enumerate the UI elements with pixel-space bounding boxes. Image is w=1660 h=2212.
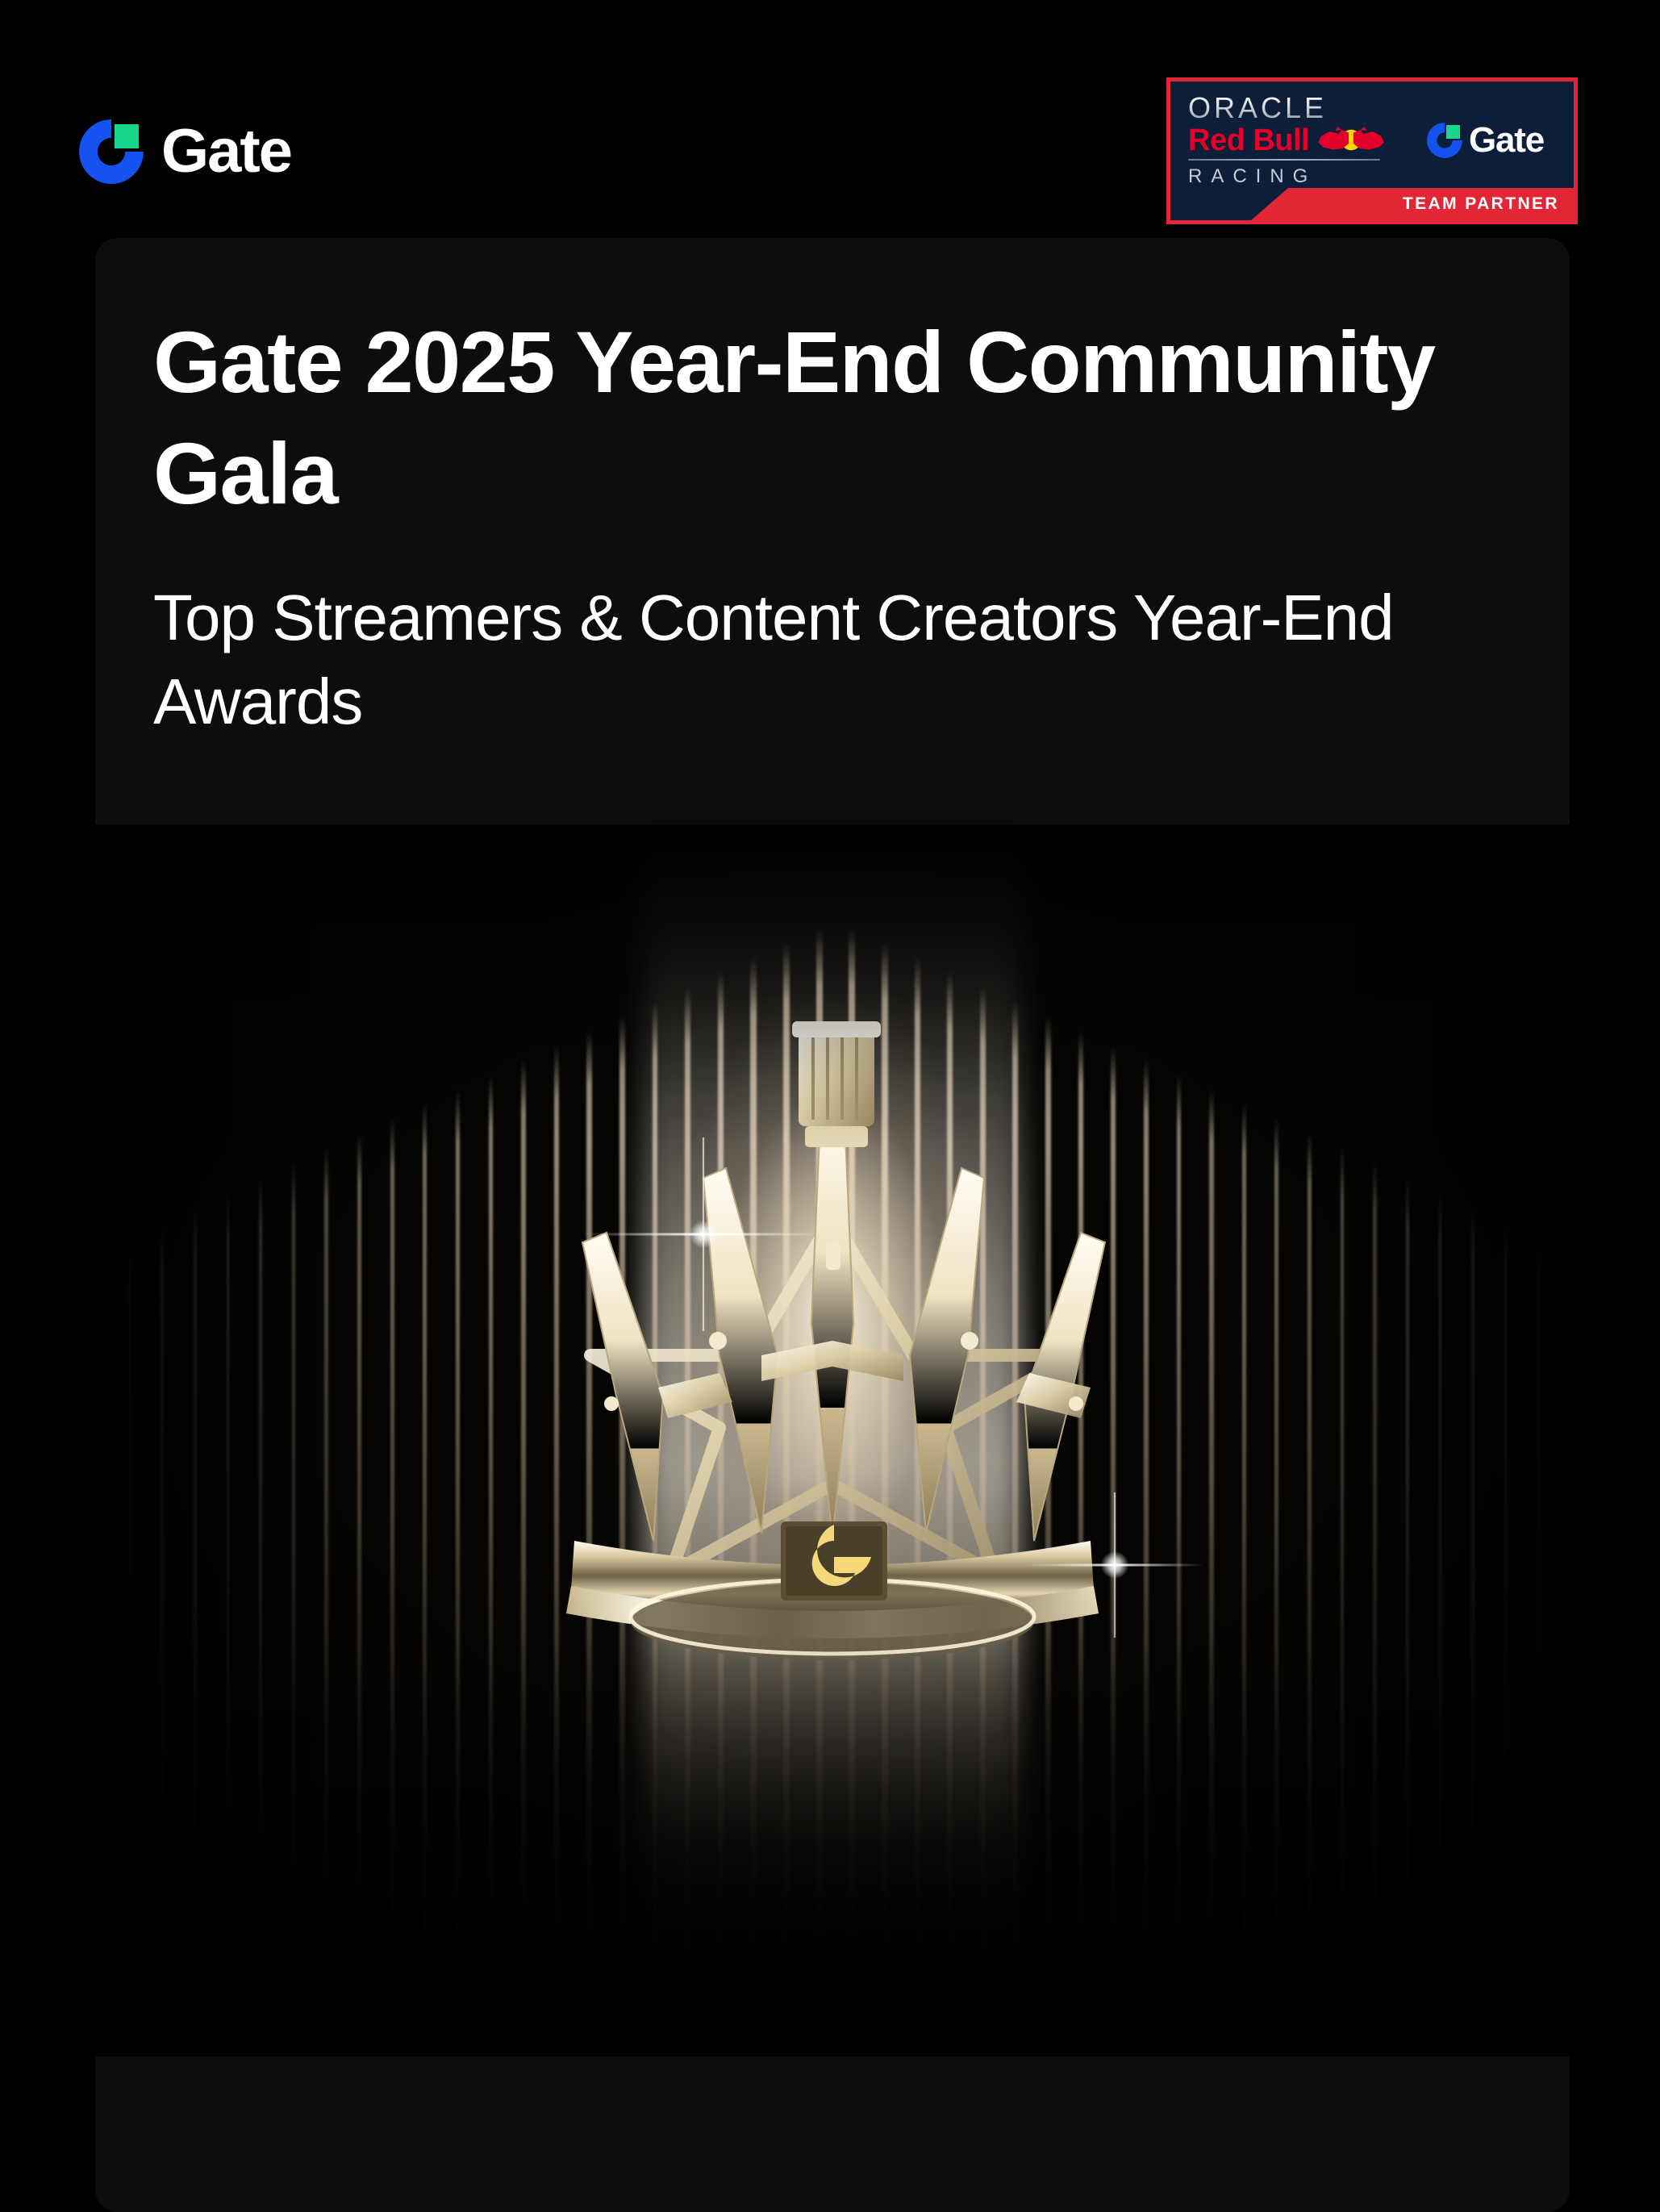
gate-brand-logo[interactable]: Gate bbox=[79, 119, 291, 184]
team-partner-banner: TEAM PARTNER bbox=[1251, 188, 1574, 220]
gate-logo-icon bbox=[79, 119, 144, 184]
gate-square-shape bbox=[115, 124, 139, 148]
oracle-label: ORACLE bbox=[1188, 93, 1404, 123]
badge-gate-wordmark: Gate bbox=[1469, 120, 1544, 161]
page-subtitle: Top Streamers & Content Creators Year-En… bbox=[153, 576, 1512, 744]
image-vignette bbox=[95, 824, 1570, 2056]
badge-gate-logo: Gate bbox=[1427, 120, 1544, 161]
gate-logo-icon-small bbox=[1427, 123, 1462, 158]
team-partner-label: TEAM PARTNER bbox=[1403, 194, 1559, 214]
red-bull-label: Red Bull bbox=[1188, 125, 1309, 156]
page-title: Gate 2025 Year-End Community Gala bbox=[153, 307, 1512, 529]
card-text-block: Gate 2025 Year-End Community Gala Top St… bbox=[95, 238, 1570, 744]
gate-square-shape-small bbox=[1446, 125, 1460, 139]
gate-crown-trophy-image bbox=[95, 824, 1570, 2056]
oracle-red-bull-racing-partner-badge[interactable]: ORACLE Red Bull RACING bbox=[1166, 77, 1578, 224]
announcement-card[interactable]: Gate 2025 Year-End Community Gala Top St… bbox=[95, 238, 1570, 2212]
gate-wordmark: Gate bbox=[161, 121, 291, 182]
page-header: Gate ORACLE Red Bull RACING bbox=[0, 0, 1660, 242]
page-root: Gate ORACLE Red Bull RACING bbox=[0, 0, 1660, 2212]
badge-divider bbox=[1188, 159, 1380, 161]
red-bull-icon bbox=[1314, 127, 1388, 156]
racing-label: RACING bbox=[1188, 165, 1404, 188]
red-bull-row: Red Bull bbox=[1188, 125, 1404, 156]
red-bull-racing-lockup: ORACLE Red Bull RACING bbox=[1188, 93, 1404, 188]
